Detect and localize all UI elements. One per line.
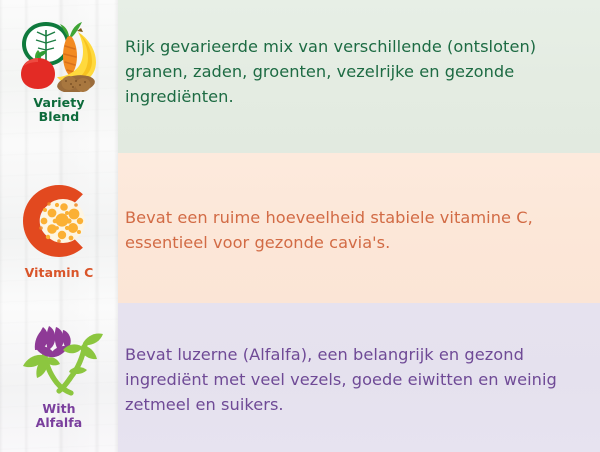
badge-label-with-alfalfa: With Alfalfa <box>36 402 83 430</box>
product-features-panel: Variety Blend Rijk gevarieerde mix van v… <box>0 0 600 452</box>
vitamin-c-letter-icon <box>21 183 97 259</box>
feature-description-with-alfalfa: Bevat luzerne (Alfalfa), een belangrijk … <box>118 303 600 417</box>
mixed-vegetables-fruit-icon <box>16 16 102 92</box>
badge-variety-blend: Variety Blend <box>0 0 118 124</box>
feature-description-vitamin-c: Bevat een ruime hoeveelheid stabiele vit… <box>118 153 600 255</box>
badge-label-vitamin-c: Vitamin C <box>25 266 94 280</box>
feature-description-variety-blend: Rijk gevarieerde mix van verschillende (… <box>118 0 600 109</box>
feature-row-variety-blend: Variety Blend Rijk gevarieerde mix van v… <box>0 0 600 153</box>
alfalfa-flower-icon <box>13 325 105 397</box>
feature-row-with-alfalfa: With Alfalfa Bevat luzerne (Alfalfa), ee… <box>0 303 600 452</box>
badge-vitamin-c: Vitamin C <box>0 153 118 280</box>
badge-label-variety-blend: Variety Blend <box>33 96 84 124</box>
badge-with-alfalfa: With Alfalfa <box>0 303 118 430</box>
feature-row-vitamin-c: Vitamin C Bevat een ruime hoeveelheid st… <box>0 153 600 303</box>
